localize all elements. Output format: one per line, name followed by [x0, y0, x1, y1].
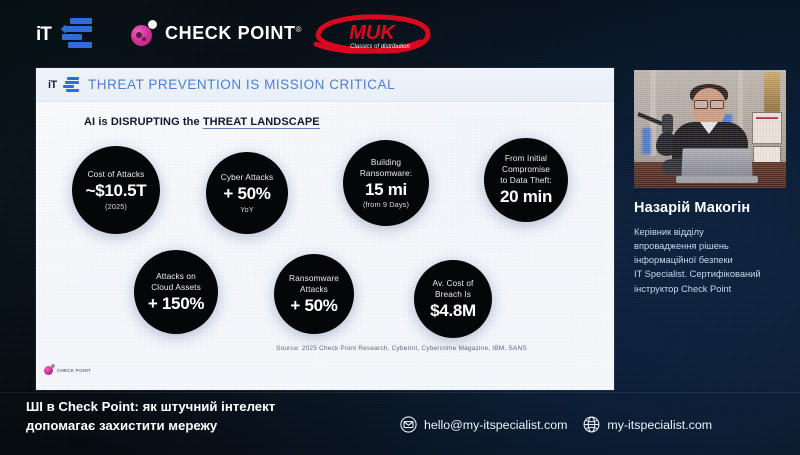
stat-bubble: Building Ransomware: 15 mi (from 9 Days)	[343, 140, 429, 226]
presentation-slide: iT THREAT PREVENTION IS MISSION CRITICAL…	[36, 68, 614, 390]
stat-value: + 50%	[223, 184, 270, 204]
stat-bubble: Av. Cost of Breach Is $4.8M	[414, 260, 492, 338]
speaker-role: Керівник відділу впровадження рішень інф…	[634, 225, 794, 296]
stat-value: 15 mi	[365, 180, 407, 200]
stat-bubble: Cyber Attacks + 50% YoY	[206, 152, 288, 234]
stat-label: Building Ransomware:	[360, 157, 412, 179]
stat-note: (2025)	[105, 202, 127, 211]
slide-check-point-footer-logo: CHECK POINT	[44, 366, 91, 375]
muk-logo: MUK Classics of distribution	[310, 14, 435, 54]
check-point-logo: CHECK POINT®	[131, 20, 302, 46]
webinar-title: ШІ в Check Point: як штучний інтелект до…	[26, 398, 396, 435]
check-point-mark-icon	[44, 366, 53, 375]
speaker-name: Назарій Макогін	[634, 200, 794, 216]
stat-value: 20 min	[500, 187, 552, 207]
stat-value: + 150%	[148, 294, 204, 314]
stat-note: YoY	[240, 205, 254, 214]
stat-label: Ransomware Attacks	[289, 273, 339, 295]
stat-bubble: Ransomware Attacks + 50%	[274, 254, 354, 334]
stat-bubble: Attacks on Cloud Assets + 150%	[134, 250, 218, 334]
speaker-webcam-video[interactable]	[634, 70, 786, 188]
speaker-info: Назарій Макогін Керівник відділу впровад…	[634, 200, 794, 296]
muk-tagline: Classics of distribution	[350, 44, 410, 50]
contact-website-text: my-itspecialist.com	[607, 418, 712, 432]
stat-value: + 50%	[290, 296, 337, 316]
stat-label: Cost of Attacks	[88, 169, 145, 180]
check-point-logo-text: CHECK POINT	[165, 23, 296, 43]
contact-email-text: hello@my-itspecialist.com	[424, 418, 567, 432]
top-logo-bar: iT CHECK POINT® MUK Classics of distribu…	[0, 0, 800, 66]
it-logo-blocks-icon	[62, 18, 96, 48]
contact-bar: hello@my-itspecialist.com my-itspecialis…	[400, 416, 712, 433]
slide-source-note: Source: 2025 Check Point Research, Cyber…	[276, 345, 527, 352]
check-point-mark-icon	[131, 20, 157, 46]
presentation-screen: iT CHECK POINT® MUK Classics of distribu…	[0, 0, 800, 455]
stat-label: Attacks on Cloud Assets	[151, 271, 201, 293]
globe-icon	[583, 416, 600, 433]
envelope-icon	[400, 416, 417, 433]
slide-footer-logo-text: CHECK POINT	[57, 368, 91, 373]
check-point-trademark: ®	[296, 25, 303, 34]
it-specialist-logo: iT	[36, 16, 98, 50]
stat-value: ~$10.5T	[86, 181, 147, 201]
stat-label: Av. Cost of Breach Is	[433, 278, 474, 300]
stat-bubble: From Initial Compromise to Data Theft: 2…	[484, 138, 568, 222]
stat-label: From Initial Compromise to Data Theft:	[500, 153, 552, 186]
stat-bubble: Cost of Attacks ~$10.5T (2025)	[72, 146, 160, 234]
svg-text:MUK: MUK	[349, 22, 396, 44]
contact-email[interactable]: hello@my-itspecialist.com	[400, 416, 567, 433]
stat-value: $4.8M	[430, 301, 476, 321]
stat-bubbles-group: Cost of Attacks ~$10.5T (2025) Cyber Att…	[36, 68, 614, 390]
stat-note: (from 9 Days)	[363, 200, 409, 209]
contact-website[interactable]: my-itspecialist.com	[583, 416, 712, 433]
stat-label: Cyber Attacks	[221, 172, 273, 183]
it-specialist-logo-text: iT	[36, 24, 51, 46]
